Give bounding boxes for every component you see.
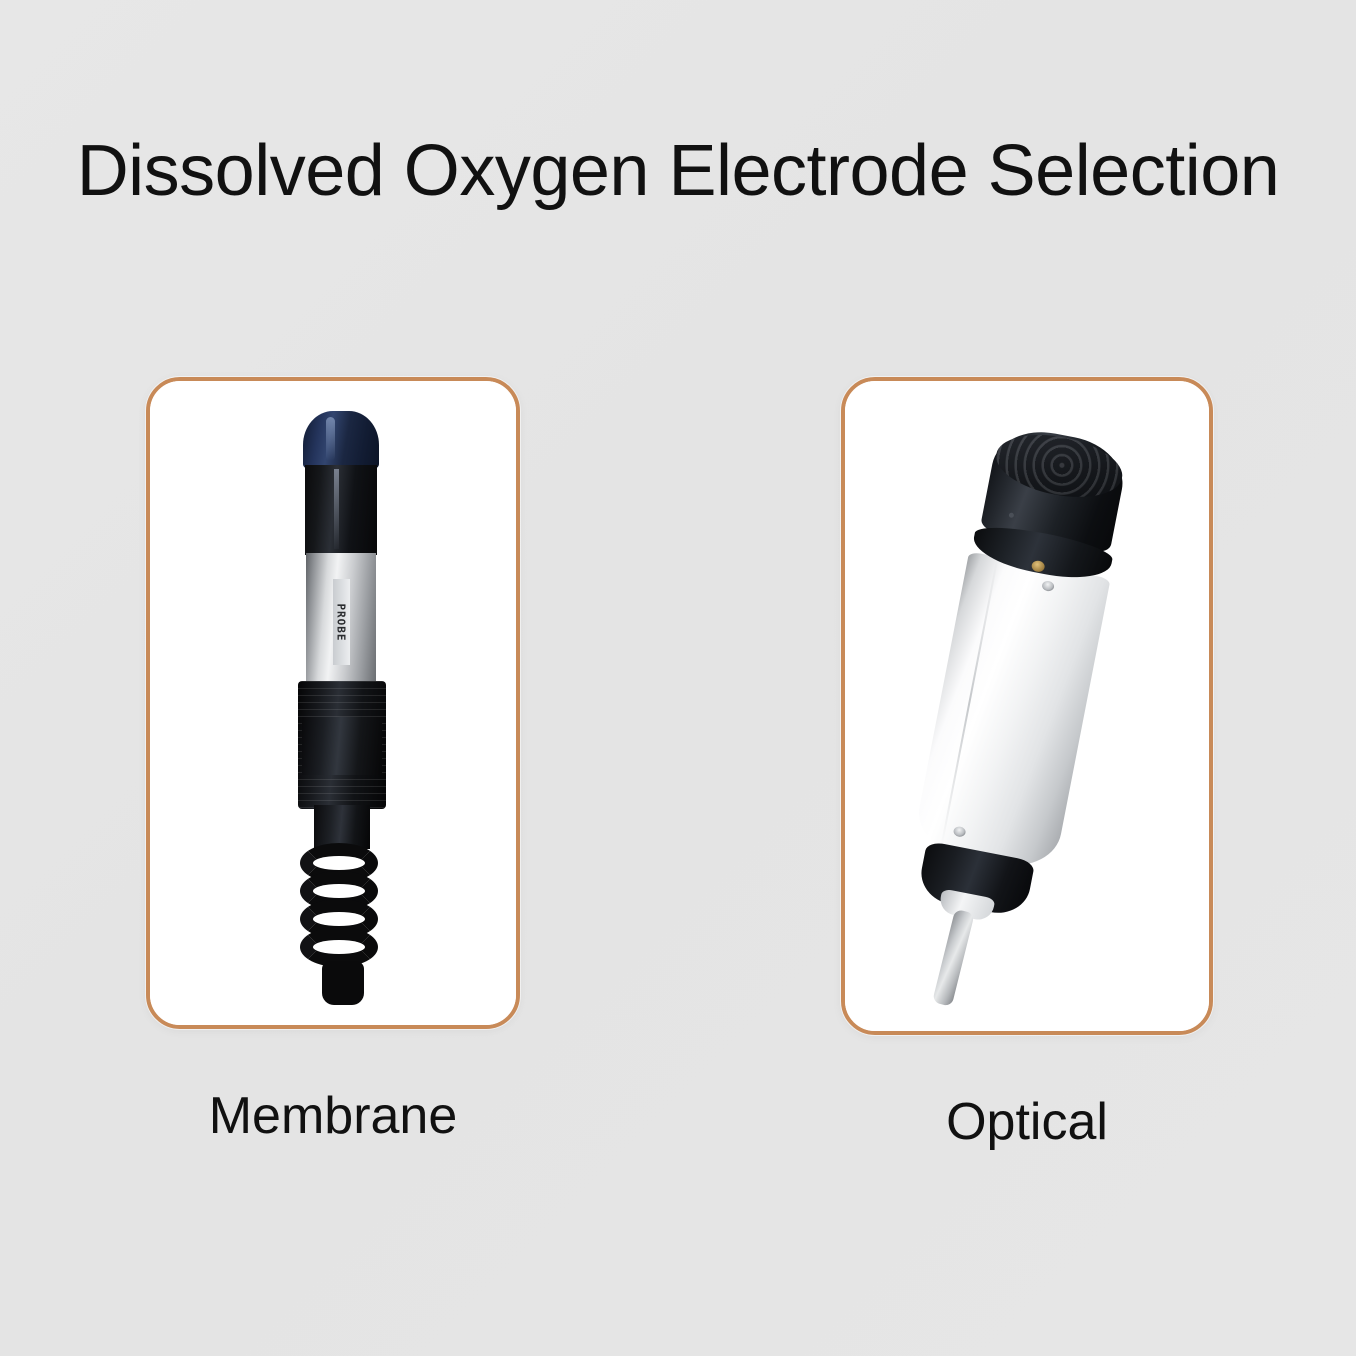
page-title: Dissolved Oxygen Electrode Selection <box>0 128 1356 214</box>
membrane-blue-cap-icon <box>303 411 379 469</box>
membrane-barrel-highlight <box>334 469 339 549</box>
membrane-photo: PROBE <box>150 381 516 1025</box>
optical-photo <box>845 381 1209 1031</box>
membrane-caption: Membrane <box>146 1087 520 1145</box>
optical-caption: Optical <box>841 1093 1213 1151</box>
optical-photo-card[interactable] <box>841 377 1213 1035</box>
optical-cable <box>932 909 975 1007</box>
electrode-option-membrane[interactable]: PROBE Membrane <box>146 377 520 1145</box>
membrane-upper-barrel <box>305 465 377 555</box>
membrane-coiled-cable <box>300 843 386 1005</box>
optical-white-body <box>912 551 1111 873</box>
cable-end <box>322 961 364 1005</box>
electrode-option-optical[interactable]: Optical <box>841 377 1213 1151</box>
membrane-sleeve-marking: PROBE <box>333 579 350 665</box>
optical-probe-body-group <box>868 418 1161 1004</box>
membrane-photo-card[interactable]: PROBE <box>146 377 520 1029</box>
membrane-body-midband <box>302 717 382 775</box>
optical-probe-illustration <box>845 381 1209 1031</box>
page-root: Dissolved Oxygen Electrode Selection PRO… <box>0 0 1356 1356</box>
membrane-probe-illustration: PROBE <box>150 381 516 1025</box>
membrane-cap-highlight <box>326 417 335 461</box>
membrane-sleeve-marking-text: PROBE <box>335 603 348 641</box>
